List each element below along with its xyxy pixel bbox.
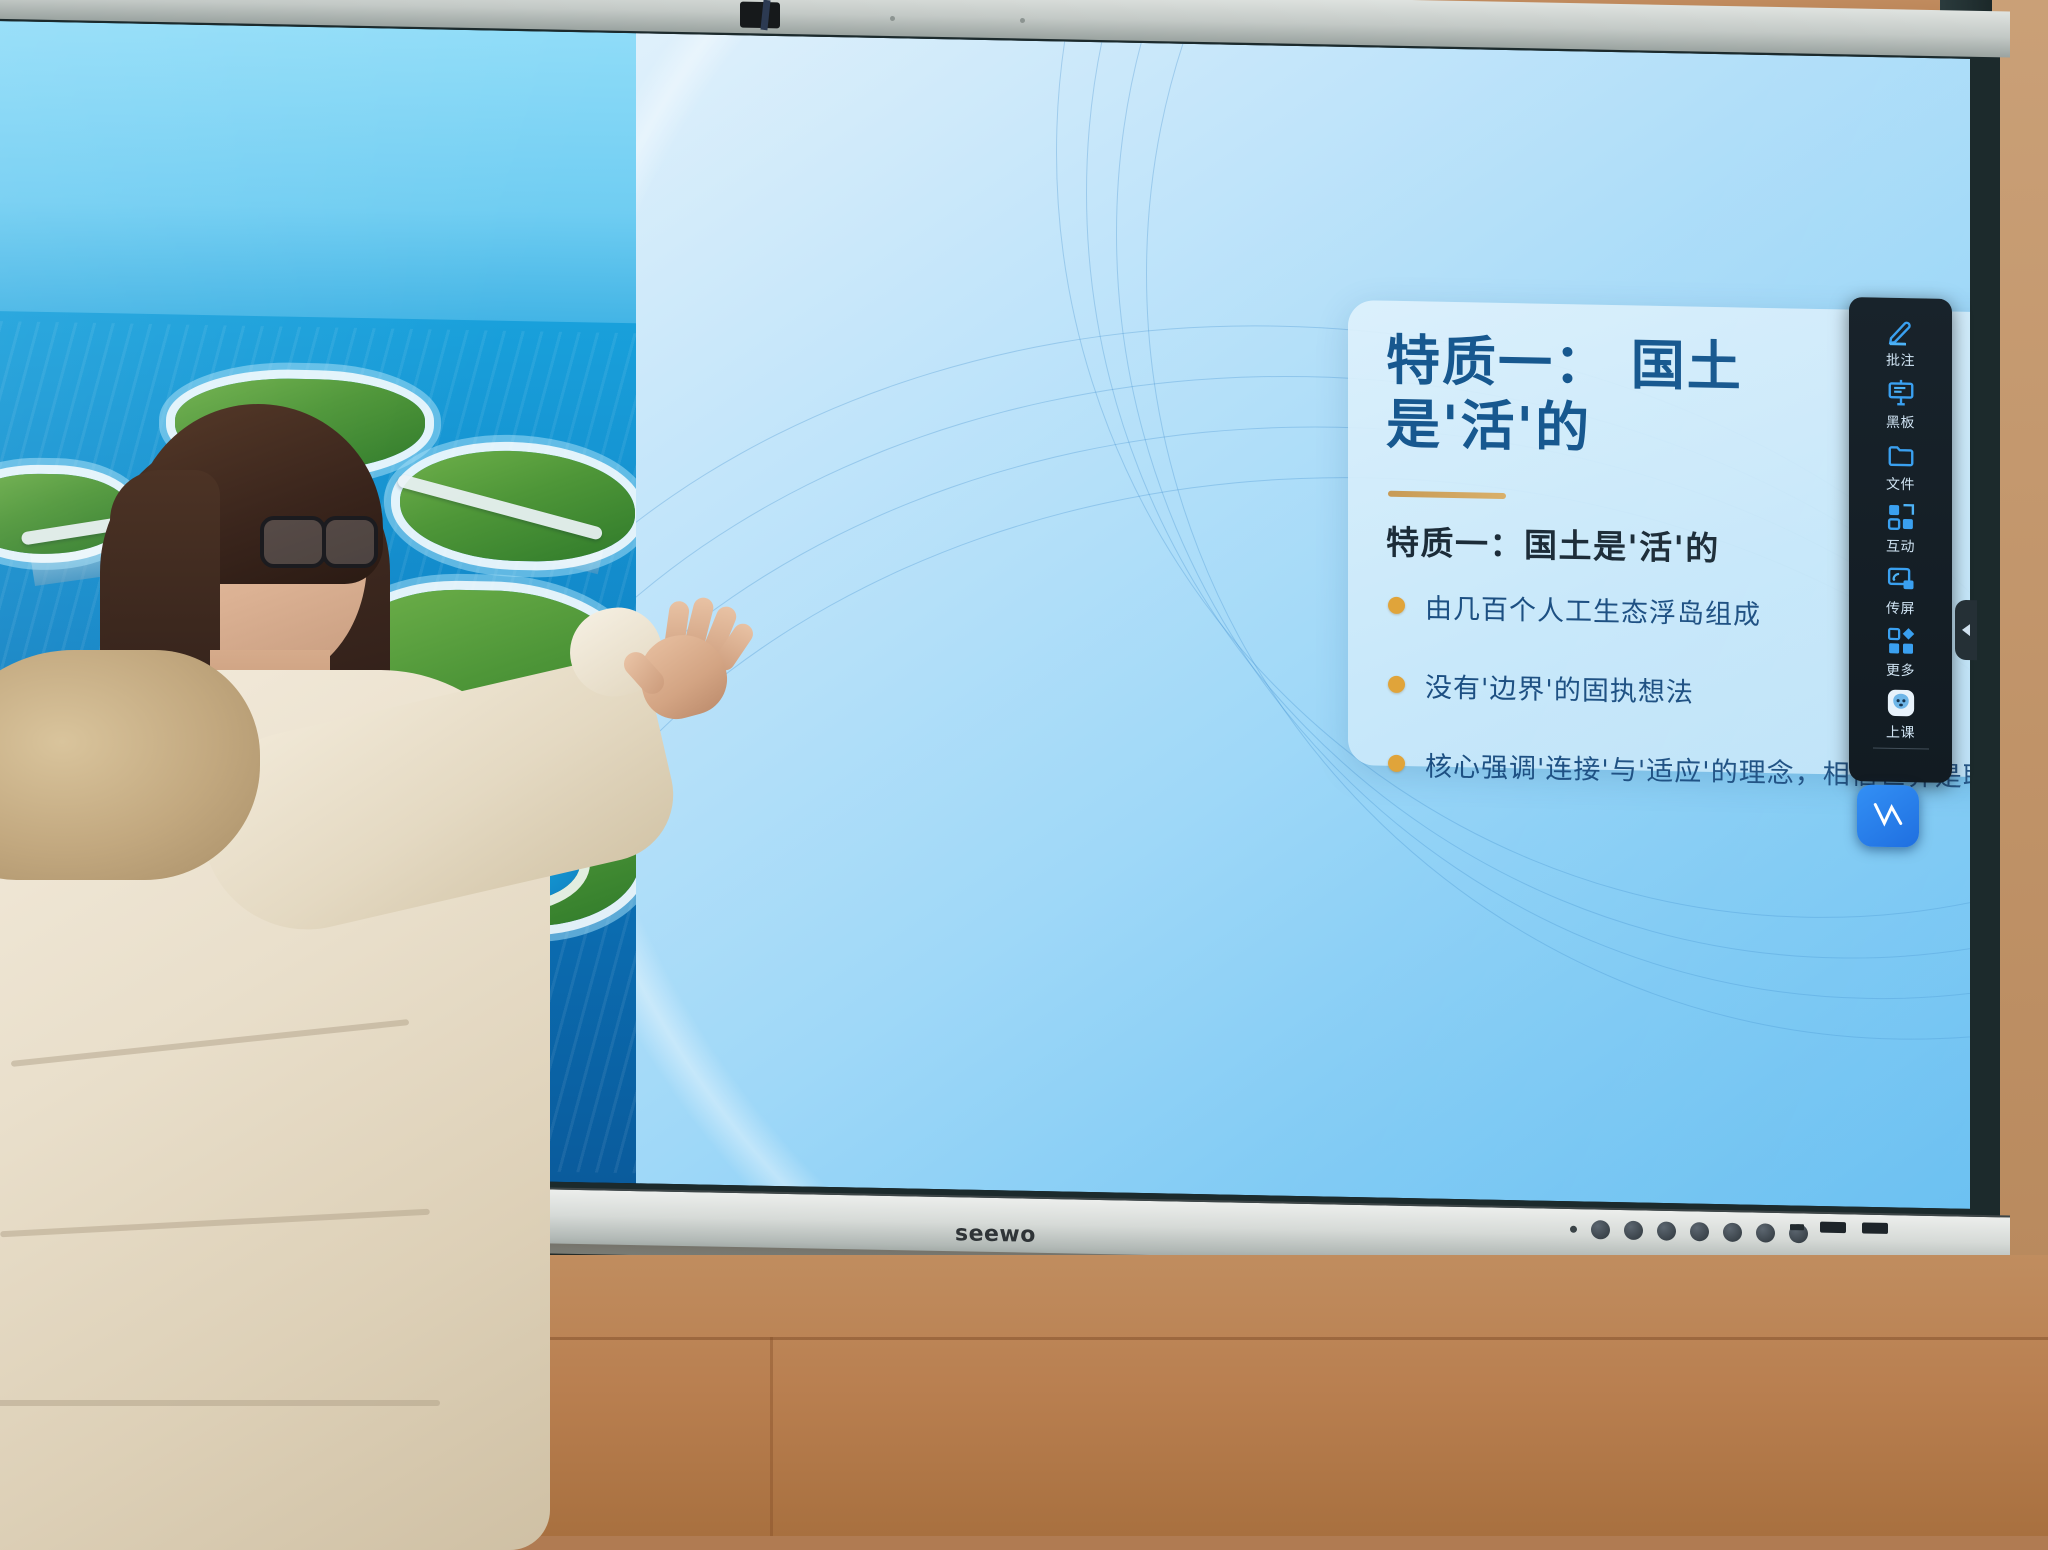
photo-sky: [0, 21, 640, 333]
bullet-text: 没有'边界'的固执想法: [1425, 665, 1694, 709]
classroom-scene: 特质一： 国土 是'活'的 特质一：国土是'活'的 由几百个人工生态浮岛组成 没…: [0, 0, 2048, 1536]
toolbar-label: 更多: [1886, 660, 1915, 681]
toolbar-item-class[interactable]: 上课: [1849, 683, 1952, 747]
hardware-button[interactable]: [1624, 1221, 1643, 1240]
slide-subtitle: 特质一：国土是'活'的: [1386, 516, 1720, 570]
title-divider: [1388, 491, 1506, 499]
indicator-led: [1570, 1226, 1577, 1233]
presentation-slide[interactable]: 特质一： 国土 是'活'的 特质一：国土是'活'的 由几百个人工生态浮岛组成 没…: [636, 33, 1970, 1209]
fur-collar: [0, 650, 260, 880]
toolbar-item-annotate[interactable]: 批注: [1849, 311, 1952, 375]
toolbar-label: 互动: [1886, 536, 1915, 557]
hardware-button[interactable]: [1723, 1223, 1742, 1242]
toolbar-item-cast-screen[interactable]: 传屏: [1849, 559, 1952, 623]
bezel-screw: [890, 16, 895, 21]
bullet-dot-icon: [1388, 597, 1405, 614]
power-button[interactable]: [1591, 1220, 1610, 1239]
panel-ports[interactable]: [1790, 1221, 1888, 1234]
usb-port[interactable]: [1862, 1222, 1888, 1233]
hardware-button[interactable]: [1756, 1223, 1775, 1242]
chevron-left-icon: [1962, 624, 1970, 636]
bezel-screw: [1020, 18, 1025, 23]
toolbar-item-blackboard[interactable]: 黑板: [1849, 373, 1952, 437]
bullet-dot-icon: [1388, 755, 1405, 772]
toolbar-label: 上课: [1886, 722, 1915, 743]
toolbar-label: 黑板: [1886, 412, 1915, 433]
toolbar-collapse-button[interactable]: [1955, 600, 1977, 660]
folder-icon: [1886, 440, 1916, 471]
toolbar-label: 传屏: [1886, 598, 1915, 619]
pointing-hand: [630, 605, 750, 723]
usb-port[interactable]: [1820, 1222, 1846, 1233]
interaction-icon: [1886, 502, 1916, 533]
class-mascot-icon: [1886, 688, 1916, 719]
seewo-app-launcher-button[interactable]: [1857, 784, 1919, 847]
seewo-side-toolbar[interactable]: 批注 黑板 文件: [1849, 297, 1952, 783]
glasses-lens: [322, 516, 378, 568]
coat-seam: [0, 1400, 440, 1406]
glasses: [260, 512, 380, 564]
hardware-button[interactable]: [1657, 1221, 1676, 1240]
bullet-text: 由几百个人工生态浮岛组成: [1425, 586, 1761, 631]
seewo-app-icon: [1871, 796, 1905, 836]
toolbar-item-more[interactable]: 更多: [1849, 621, 1952, 685]
pen-icon: [1886, 316, 1916, 347]
more-apps-icon: [1886, 626, 1916, 657]
glasses-lens: [260, 516, 326, 568]
toolbar-label: 批注: [1886, 350, 1915, 371]
blackboard-icon: [1886, 378, 1916, 409]
wall-seam: [770, 1337, 773, 1536]
brand-logo: seewo: [955, 1221, 1036, 1248]
toolbar-item-interaction[interactable]: 互动: [1849, 497, 1952, 561]
cast-screen-icon: [1886, 564, 1916, 595]
toolbar-label: 文件: [1886, 474, 1915, 495]
toolbar-divider: [1873, 747, 1929, 749]
hdmi-port[interactable]: [1790, 1224, 1804, 1230]
bullet-dot-icon: [1388, 676, 1405, 693]
presenter: [0, 400, 730, 1536]
hardware-button[interactable]: [1690, 1222, 1709, 1241]
toolbar-item-files[interactable]: 文件: [1849, 435, 1952, 499]
